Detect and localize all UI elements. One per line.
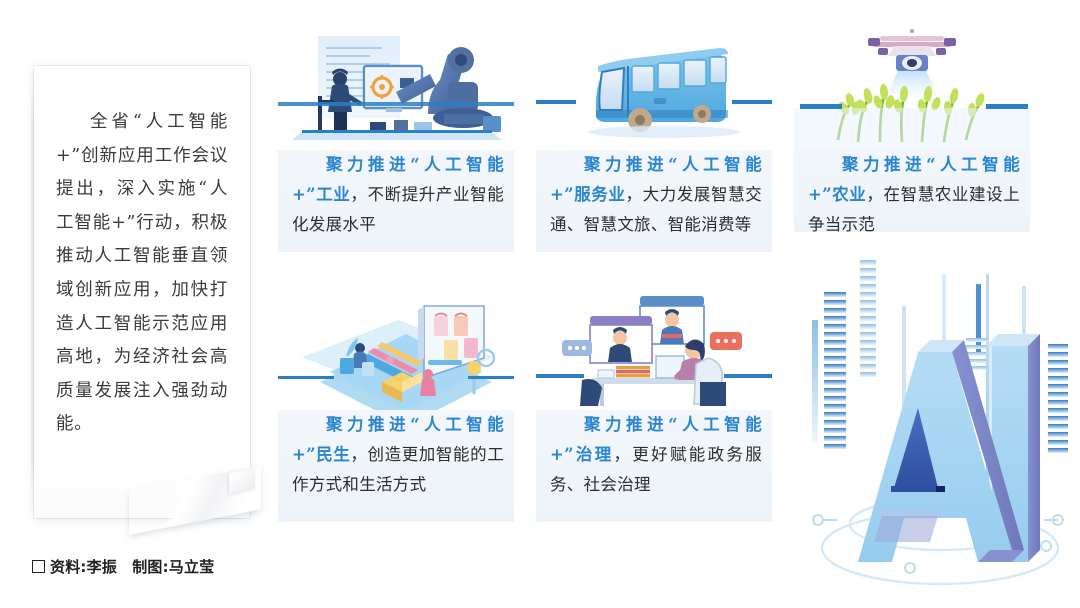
intro-paper-card: 全省“人工智能+”创新应用工作会议提出，深入实施“人工智能+”行动，积极推动人工… [34, 66, 250, 518]
card-governance[interactable]: 聚力推进“人工智能+”治理，更好赋能政务服务、社会治理 [536, 282, 772, 522]
credit-text: 资料:李振 制图:马立莹 [50, 556, 214, 577]
card-industry-text: 聚力推进“人工智能+”工业，不断提升产业智能化发展水平 [292, 150, 504, 240]
service-illustration [536, 22, 772, 150]
card-service[interactable]: 聚力推进“人工智能+”服务业，大力发展智慧交通、智慧文旅、智能消费等 [536, 22, 772, 252]
card-agriculture[interactable]: 聚力推进“人工智能+”农业，在智慧农业建设上争当示范 [794, 22, 1030, 232]
agriculture-illustration [794, 22, 1030, 150]
card-industry[interactable]: 聚力推进“人工智能+”工业，不断提升产业智能化发展水平 [278, 22, 514, 252]
card-livelihood-text: 聚力推进“人工智能+”民生，创造更加智能的工作方式和生活方式 [292, 410, 504, 500]
card-governance-text: 聚力推进“人工智能+”治理，更好赋能政务服务、社会治理 [550, 410, 762, 500]
paper-curl-decoration [129, 465, 261, 535]
card-agriculture-text: 聚力推进“人工智能+”农业，在智慧农业建设上争当示范 [808, 150, 1020, 232]
infographic-canvas: 全省“人工智能+”创新应用工作会议提出，深入实施“人工智能+”行动，积极推动人工… [0, 0, 1080, 603]
horizon-line [278, 102, 514, 106]
credit-line: 资料:李振 制图:马立莹 [32, 556, 214, 577]
industry-illustration [278, 22, 514, 150]
card-service-text: 聚力推进“人工智能+”服务业，大力发展智慧交通、智慧文旅、智能消费等 [550, 150, 762, 240]
livelihood-illustration [278, 282, 514, 410]
governance-illustration [536, 282, 772, 410]
intro-paragraph: 全省“人工智能+”创新应用工作会议提出，深入实施“人工智能+”行动，积极推动人工… [56, 106, 228, 442]
ai-3d-graphic [790, 248, 1080, 603]
bullet-square-icon [32, 560, 45, 573]
card-livelihood[interactable]: 聚力推进“人工智能+”民生，创造更加智能的工作方式和生活方式 [278, 282, 514, 522]
